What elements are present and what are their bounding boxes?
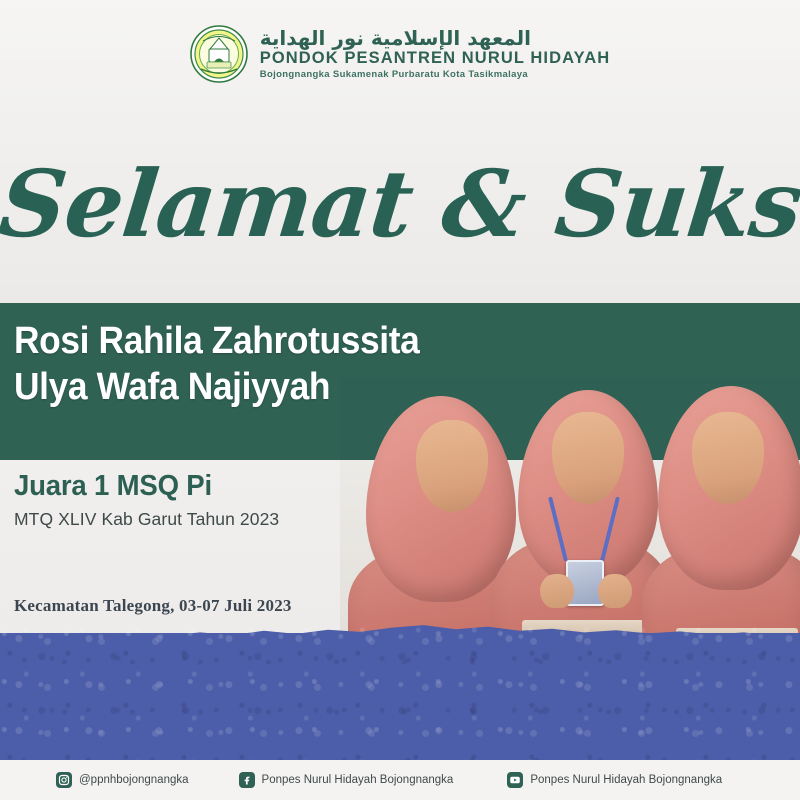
- social-youtube-label: Ponpes Nurul Hidayah Bojongnangka: [530, 773, 722, 787]
- youtube-icon: [507, 772, 523, 788]
- header-text-block: المعهد الإسلامية نور الهداية PONDOK PESA…: [260, 27, 611, 81]
- poster-canvas: المعهد الإسلامية نور الهداية PONDOK PESA…: [0, 0, 800, 800]
- award-block: Juara 1 MSQ Pi MTQ XLIV Kab Garut Tahun …: [14, 468, 279, 531]
- winner-names-block: Rosi Rahila Zahrotussita Ulya Wafa Najiy…: [14, 318, 450, 410]
- social-instagram[interactable]: @ppnhbojongnangka: [56, 772, 189, 788]
- header: المعهد الإسلامية نور الهداية PONDOK PESA…: [0, 18, 800, 90]
- header-address: Bojongnangka Sukamenak Purbaratu Kota Ta…: [260, 68, 528, 81]
- social-facebook[interactable]: Ponpes Nurul Hidayah Bojongnangka: [239, 772, 454, 788]
- social-youtube[interactable]: Ponpes Nurul Hidayah Bojongnangka: [507, 772, 722, 788]
- award-title: Juara 1 MSQ Pi: [14, 468, 266, 504]
- venue-date: Kecamatan Talegong, 03-07 Juli 2023: [14, 595, 292, 617]
- social-instagram-label: @ppnhbojongnangka: [79, 773, 189, 787]
- winner-name-2: Ulya Wafa Najiyyah: [14, 364, 419, 410]
- footer-social-bar: @ppnhbojongnangka Ponpes Nurul Hidayah B…: [0, 760, 800, 800]
- header-arabic-title: المعهد الإسلامية نور الهداية: [260, 27, 531, 49]
- headline-selamat-sukses: Selamat & Sukses: [0, 152, 800, 256]
- background-blue-band: [0, 633, 800, 760]
- pesantren-emblem-icon: [190, 25, 248, 83]
- winner-name-1: Rosi Rahila Zahrotussita: [14, 318, 419, 364]
- header-latin-title: PONDOK PESANTREN NURUL HIDAYAH: [260, 49, 611, 68]
- instagram-icon: [56, 772, 72, 788]
- facebook-icon: [239, 772, 255, 788]
- award-event: MTQ XLIV Kab Garut Tahun 2023: [14, 507, 279, 531]
- social-facebook-label: Ponpes Nurul Hidayah Bojongnangka: [262, 773, 454, 787]
